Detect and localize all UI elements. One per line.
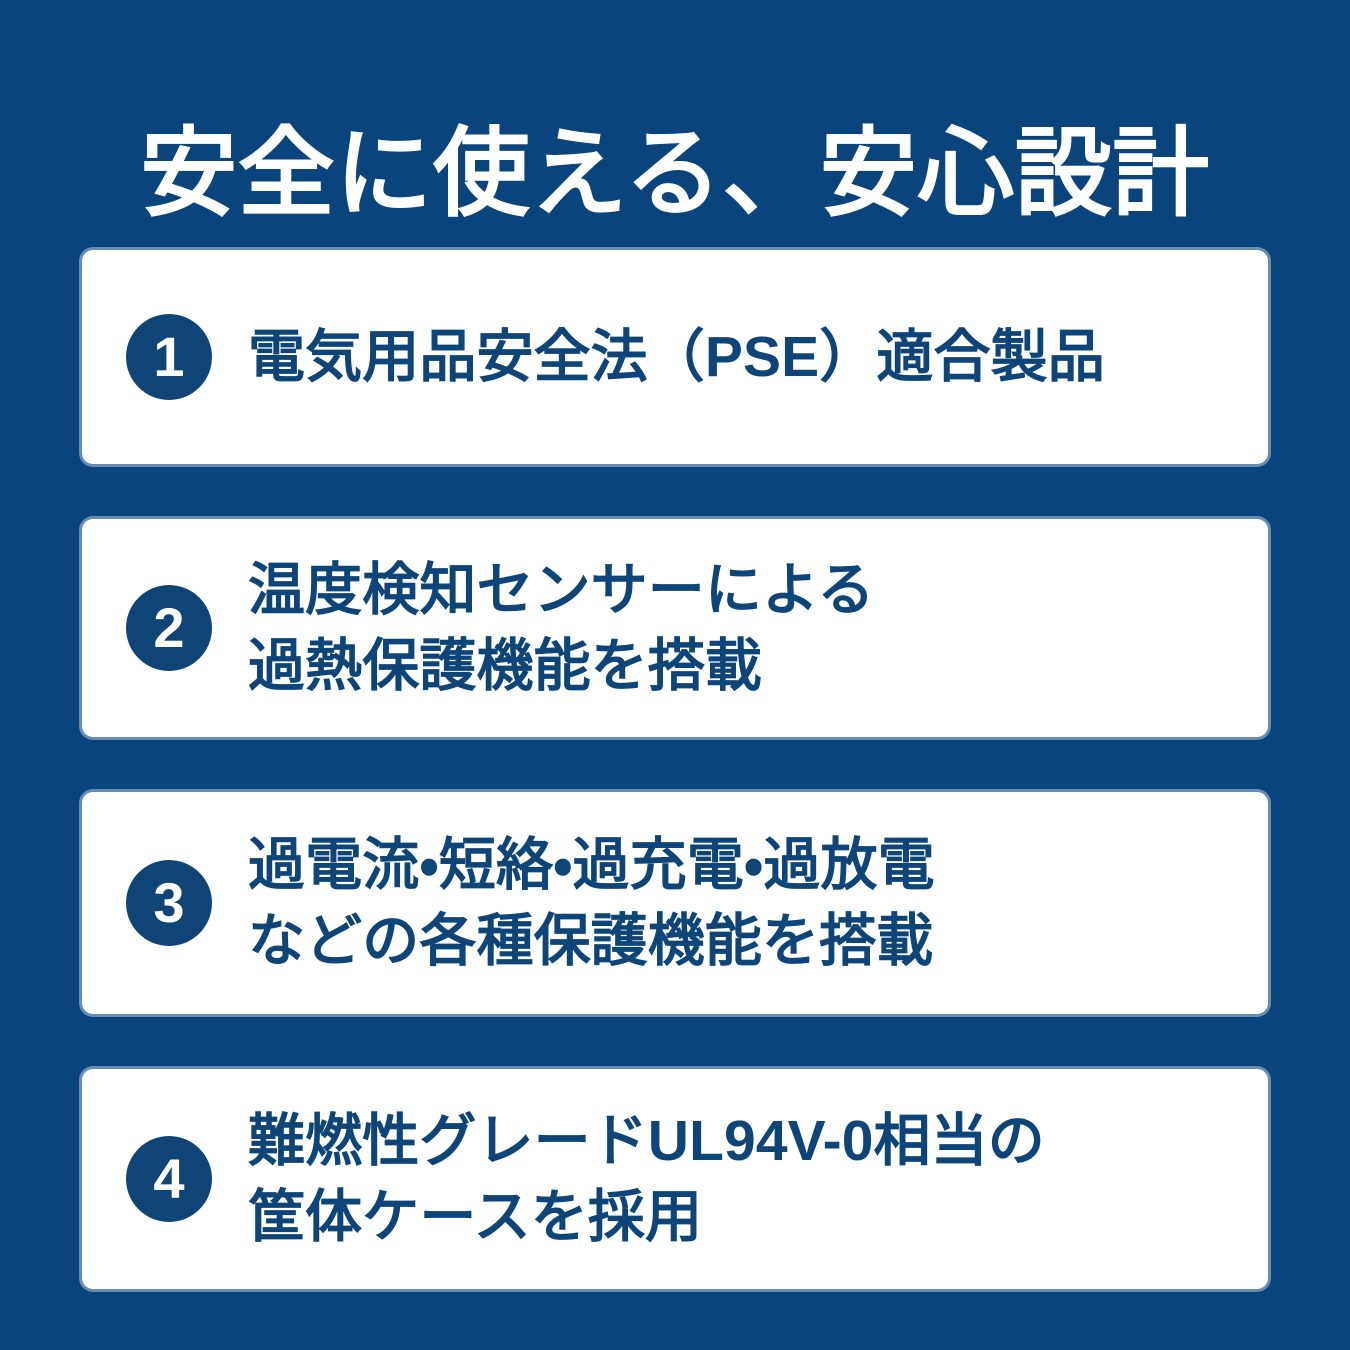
feature-text-3-line-2: などの各種保護機能を搭載 [248,903,935,979]
number-badge-2: 2 [126,585,212,671]
number-badge-3: 3 [126,860,212,946]
number-badge-1: 1 [126,314,212,400]
feature-text-1: 電気用品安全法（PSE）適合製品 [248,319,1105,395]
feature-card-list: 1 電気用品安全法（PSE）適合製品 2 温度検知センサーによる 過熱保護機能を… [82,250,1268,1289]
page-title: 安全に使える、安心設計 [0,117,1350,231]
feature-card-3: 3 過電流・短絡・過充電・過放電 などの各種保護機能を搭載 [82,792,1268,1014]
feature-card-4: 4 難燃性グレードUL94V-0相当の 筐体ケースを採用 [82,1069,1268,1289]
feature-text-2: 温度検知センサーによる 過熱保護機能を搭載 [248,552,875,705]
safety-design-poster: 安全に使える、安心設計 1 電気用品安全法（PSE）適合製品 2 温度検知センサ… [0,0,1350,1350]
feature-text-3-line-1: 過電流・短絡・過充電・過放電 [248,827,935,903]
feature-text-4-line-1: 難燃性グレードUL94V-0相当の [248,1103,1045,1179]
number-badge-4: 4 [126,1136,212,1222]
feature-text-4-line-2: 筐体ケースを採用 [248,1179,1045,1255]
feature-text-1-line-1: 電気用品安全法（PSE）適合製品 [248,319,1105,395]
feature-text-3: 過電流・短絡・過充電・過放電 などの各種保護機能を搭載 [248,827,935,980]
feature-text-2-line-2: 過熱保護機能を搭載 [248,628,875,704]
feature-text-4: 難燃性グレードUL94V-0相当の 筐体ケースを採用 [248,1103,1045,1256]
feature-card-1: 1 電気用品安全法（PSE）適合製品 [82,250,1268,464]
feature-text-2-line-1: 温度検知センサーによる [248,552,875,628]
feature-card-2: 2 温度検知センサーによる 過熱保護機能を搭載 [82,519,1268,737]
